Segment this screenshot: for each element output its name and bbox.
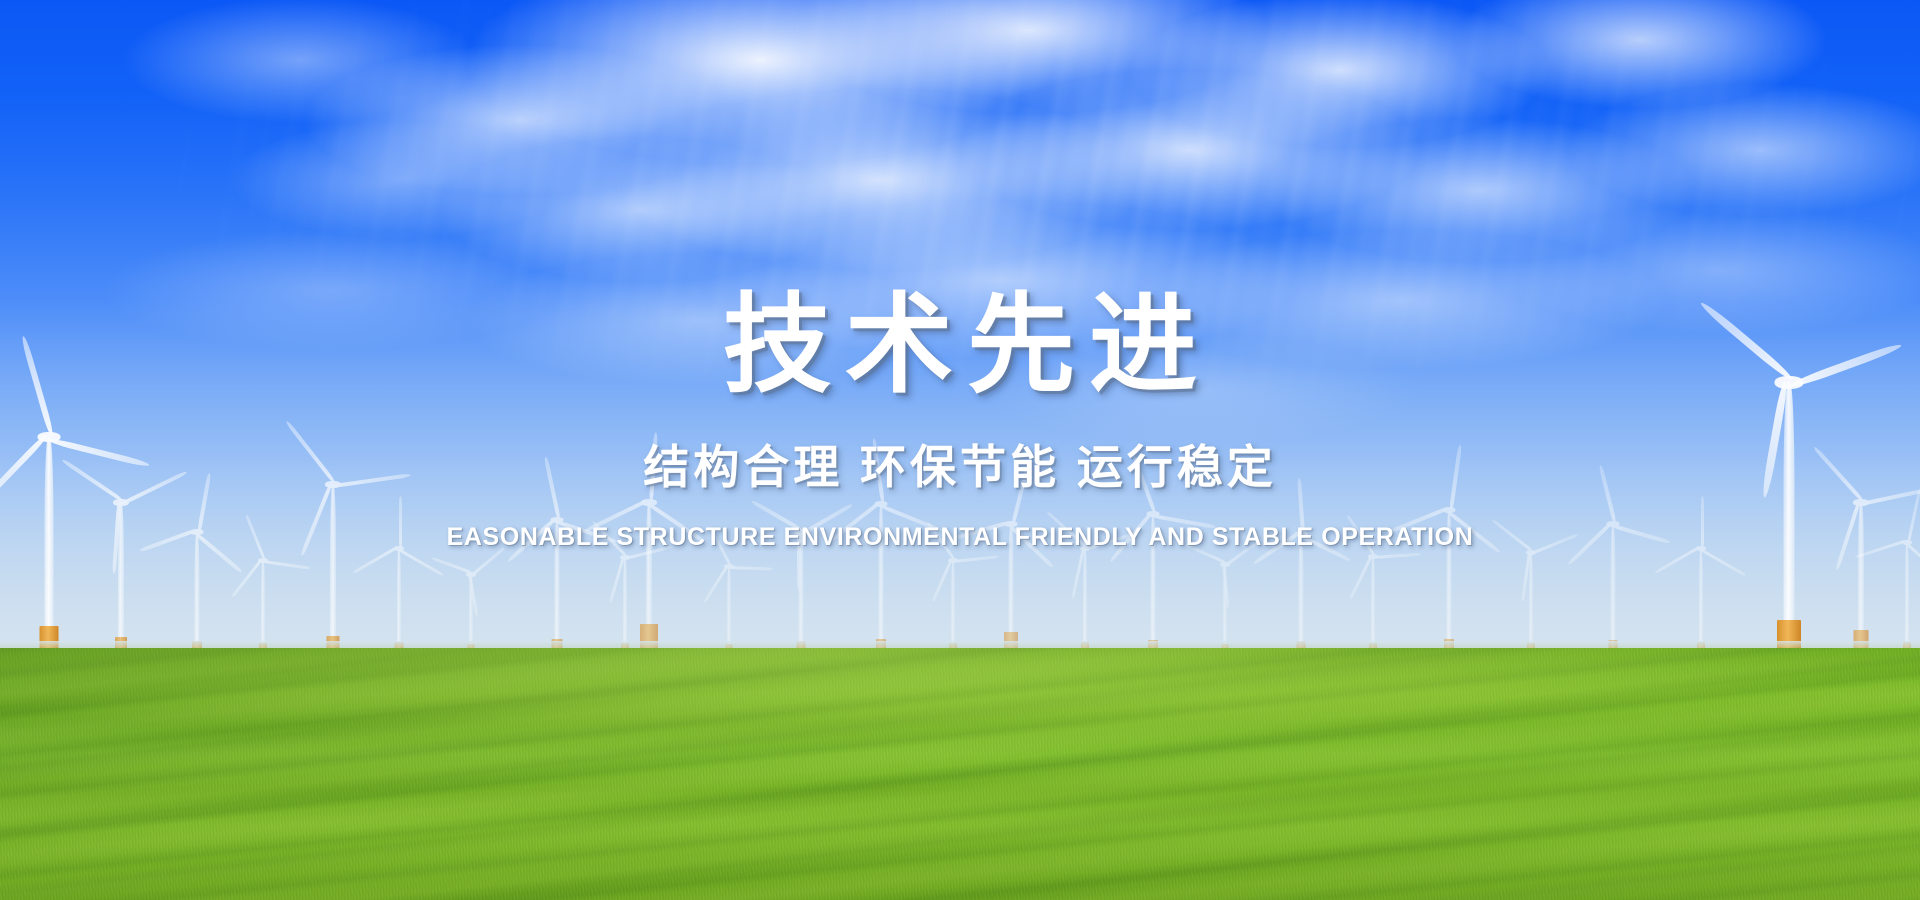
banner-headline: 技术先进 — [0, 288, 1920, 402]
banner-copy: 技术先进 结构合理 环保节能 运行稳定 EASONABLE STRUCTURE … — [0, 0, 1920, 652]
grass-highlight-sheen — [0, 648, 1920, 900]
banner-english-tagline: EASONABLE STRUCTURE ENVIRONMENTAL FRIEND… — [0, 522, 1920, 552]
grass-counter-band-texture — [0, 648, 1920, 900]
grass-band-texture — [0, 648, 1920, 900]
banner-subheadline: 结构合理 环保节能 运行稳定 — [0, 442, 1920, 493]
hero-banner: 技术先进 结构合理 环保节能 运行稳定 EASONABLE STRUCTURE … — [0, 0, 1920, 900]
grass-blade-texture — [0, 648, 1920, 900]
grass-field — [0, 648, 1920, 900]
